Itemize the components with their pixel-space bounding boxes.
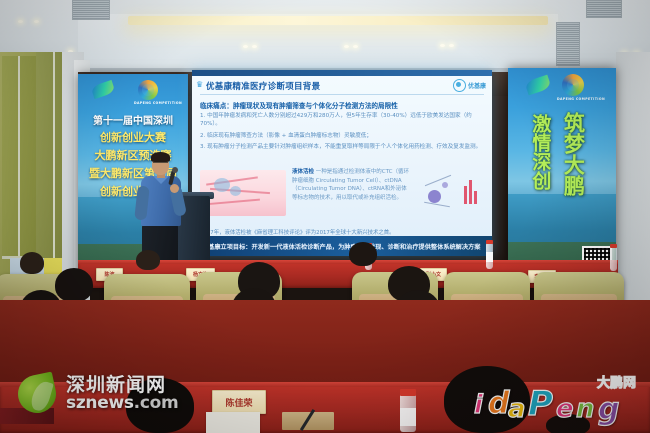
dapeng-logo-icon <box>562 74 584 96</box>
ida-letter-a: a <box>508 394 526 424</box>
ceiling-spot-icon <box>449 44 454 47</box>
bottle-cap <box>400 389 416 396</box>
left-banner-line-1: 第十一届中国深圳 <box>78 112 188 127</box>
audience-head <box>55 268 93 302</box>
slide-corp-logo: 优基康 <box>453 79 486 92</box>
bar-chart-icon <box>464 178 480 204</box>
left-banner-logo-caption: DAPENG COMPETITION <box>134 101 182 105</box>
slide-top-bar <box>192 70 492 76</box>
dna-icon: ♛ <box>196 80 204 89</box>
ida-letter-e: e <box>556 394 574 424</box>
ceiling-spot-icon <box>353 45 358 48</box>
ceiling-spot-icon <box>34 20 39 23</box>
left-banner-line-3: 大鹏新区预选赛 <box>78 147 188 163</box>
swallow-logo-icon <box>524 75 551 96</box>
bottle-label <box>486 252 493 262</box>
projection-screen: ♛ 优基康精准医疗诊断项目背景 优基康 临床痛点：肿瘤现状及现有肿瘤筛查与个体化… <box>192 70 492 256</box>
audience-head <box>349 242 377 266</box>
air-vent-icon <box>72 0 110 20</box>
watermark-sznews: 深圳新闻网 sznews.com <box>16 372 178 416</box>
ceiling <box>0 0 650 72</box>
slide-bullet-2: 2. 临床现有肿瘤筛查方法（影像 + 血清蛋白肿瘤标志物）灵敏度低； <box>200 132 484 140</box>
air-vent-icon <box>556 22 580 66</box>
ida-letter-d: d <box>488 386 509 421</box>
slide-mid-heading: 液体活检 <box>292 169 314 175</box>
slide-bullet-3: 3. 现有肿瘤分子检测产品主要针对肿瘤组织样本，不能重复取样等局限于个人个体化用… <box>200 143 484 151</box>
blind-rod <box>53 52 55 264</box>
ceiling-spot-icon <box>243 45 248 48</box>
ceiling-spot-icon <box>252 45 257 48</box>
ceiling-spot-icon <box>18 20 23 23</box>
right-banner-logo-caption: DAPENG COMPETITION <box>557 97 605 101</box>
slide-middle-block: 液体活检 一种是指通过检测体液中的CTC（循环肿瘤细胞 Circulating … <box>200 166 484 222</box>
right-banner: DAPENG COMPETITION 激情深创 筑梦大鹏 <box>508 68 616 286</box>
slide-footer-bar: 优基康立项目标：开发新一代液体活检诊断产品，为肿瘤早期发现、诊断和治疗提供整体系… <box>192 236 492 256</box>
slide-footer-text: 优基康立项目标：开发新一代液体活检诊断产品，为肿瘤早期发现、诊断和治疗提供整体系… <box>202 242 480 251</box>
paper-sheet <box>206 412 260 433</box>
audience-head <box>20 252 44 274</box>
bottle-cap <box>610 244 617 248</box>
speaker-glasses-icon <box>153 162 168 166</box>
right-banner-column-2: 筑梦大鹏 <box>562 112 583 196</box>
ceiling-spot-icon <box>440 44 445 47</box>
green-leaf-logo-icon <box>16 372 60 416</box>
audience-head <box>136 250 160 270</box>
swallow-logo-icon <box>91 80 116 99</box>
slide-brand-text: 优基康 <box>468 81 486 90</box>
slide-mid-text: 液体活检 一种是指通过检测体液中的CTC（循环肿瘤细胞 Circulating … <box>292 168 410 202</box>
air-vent-icon <box>586 0 622 18</box>
watermark-en-bold: sznews <box>66 393 134 413</box>
slide-heading: 临床痛点：肿瘤现状及现有肿瘤筛查与个体化分子检测方法的局限性 <box>200 100 398 110</box>
name-plate-front: 陈佳荣 <box>212 390 266 414</box>
microphone-head-icon <box>172 167 178 173</box>
blind-rod <box>18 56 20 256</box>
speaker-hand <box>170 184 179 193</box>
watermark-idapeng: 大鹏网 i d a P e n g <box>464 372 644 428</box>
dapeng-logo-icon <box>138 80 158 100</box>
ceiling-spot-icon <box>344 45 349 48</box>
watermark-en-light: .com <box>134 393 179 413</box>
bottle-label <box>400 408 416 426</box>
watermark-en-text: sznews.com <box>66 395 178 412</box>
conference-photo: DAPENG COMPETITION 第十一届中国深圳 创新创业大赛 大鹏新区预… <box>0 0 650 433</box>
slide-title: 优基康精准医疗诊断项目背景 <box>206 80 320 92</box>
left-banner-line-2: 创新创业大赛 <box>78 129 188 145</box>
ida-letter-i: i <box>474 390 483 420</box>
ceiling-light-strip-icon <box>128 16 548 25</box>
right-banner-column-1: 激情深创 <box>530 114 549 190</box>
bottle-cap <box>486 240 493 244</box>
ida-letter-g: g <box>598 392 619 427</box>
ida-letter-n: n <box>576 394 595 424</box>
circle-logo-icon <box>453 79 466 92</box>
watermark-right-cn: 大鹏网 <box>597 372 636 391</box>
slide-note: 2017年，液体活检被《麻省理工科技评论》评为2017年全球十大新兴技术之首。 <box>200 228 484 236</box>
water-bottle <box>610 247 617 271</box>
slide-divider <box>200 94 484 95</box>
slide-bullet-1: 1. 中国年肿瘤发病和死亡人数分别超过429万和280万人，但5年生存率（30-… <box>200 112 484 129</box>
ida-letter-P: P <box>528 384 553 424</box>
molecule-diagram <box>418 174 458 210</box>
speaker-hair <box>151 152 170 162</box>
